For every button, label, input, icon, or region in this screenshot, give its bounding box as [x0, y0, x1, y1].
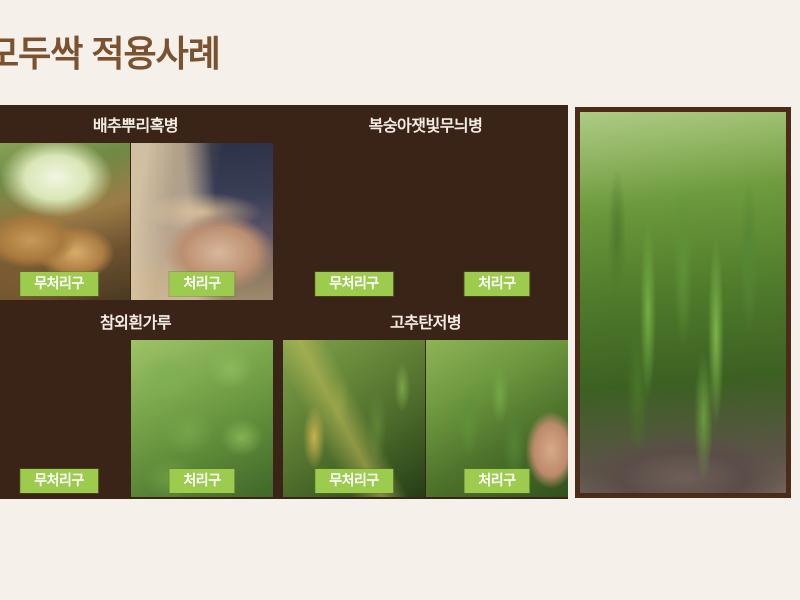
board-row: 배추뿌리혹병 복숭아잿빛무늬병 무처리구 처리구 무처리구 처리구 [0, 105, 568, 302]
status-badge-treated: 처리구 [169, 272, 234, 296]
hero-photo-frame [575, 107, 791, 498]
pepper-anthracnose-untreated-photo: 무처리구 [283, 340, 425, 497]
board-row-bodies: 무처리구 처리구 무처리구 처리구 [0, 143, 568, 302]
status-badge-untreated: 무처리구 [20, 272, 98, 296]
quadrant-header-peach-brown-rot: 복숭아잿빛무늬병 [283, 105, 568, 143]
status-badge-treated: 처리구 [169, 469, 234, 493]
status-badge-treated: 처리구 [464, 469, 529, 493]
peach-brown-rot-untreated-photo: 무처리구 [283, 143, 425, 300]
quadrant-pepper-anthracnose: 무처리구 처리구 [283, 340, 568, 497]
status-badge-treated: 처리구 [464, 272, 529, 296]
quadrant-peach-brown-rot: 무처리구 처리구 [283, 143, 568, 300]
status-badge-untreated: 무처리구 [315, 272, 393, 296]
page-title: 모두싹 적용사례 [0, 36, 220, 72]
cabbage-clubroot-treated-photo: 처리구 [131, 143, 273, 300]
quadrant-cabbage-clubroot: 무처리구 처리구 [0, 143, 283, 300]
melon-powdery-mildew-untreated-photo: 무처리구 [0, 340, 130, 497]
case-study-board: 배추뿌리혹병 복숭아잿빛무늬병 무처리구 처리구 무처리구 처리구 [0, 105, 568, 499]
board-row-headers: 참외흰가루 고추탄저병 [0, 302, 568, 340]
quadrant-header-melon-powdery-mildew: 참외흰가루 [0, 302, 283, 340]
board-row-headers: 배추뿌리혹병 복숭아잿빛무늬병 [0, 105, 568, 143]
status-badge-untreated: 무처리구 [20, 469, 98, 493]
green-chili-pepper-plant-photo [580, 112, 786, 493]
pepper-anthracnose-treated-photo: 처리구 [426, 340, 568, 497]
quadrant-header-cabbage-clubroot: 배추뿌리혹병 [0, 105, 283, 143]
melon-powdery-mildew-treated-photo: 처리구 [131, 340, 273, 497]
cabbage-clubroot-untreated-photo: 무처리구 [0, 143, 130, 300]
status-badge-untreated: 무처리구 [315, 469, 393, 493]
quadrant-header-pepper-anthracnose: 고추탄저병 [283, 302, 568, 340]
peach-brown-rot-treated-photo: 처리구 [426, 143, 568, 300]
board-row-bodies: 무처리구 처리구 무처리구 처리구 [0, 340, 568, 499]
quadrant-melon-powdery-mildew: 무처리구 처리구 [0, 340, 283, 497]
board-row: 참외흰가루 고추탄저병 무처리구 처리구 무처리구 처리구 [0, 302, 568, 499]
